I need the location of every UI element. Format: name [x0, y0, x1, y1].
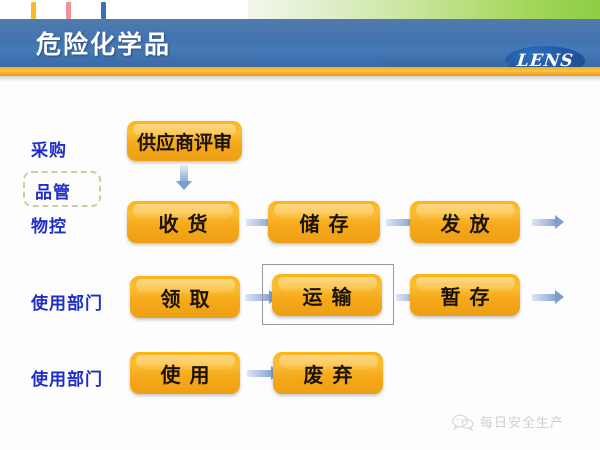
- slide: LENS 危险化学品 采购 品管 物控 使用部门 使用部门 供应商评审 收货 储…: [0, 0, 600, 450]
- node-collection[interactable]: 领取: [130, 276, 240, 318]
- node-issue[interactable]: 发放: [410, 201, 520, 243]
- node-supplier-review[interactable]: 供应商评审: [127, 121, 242, 161]
- node-temporary-storage[interactable]: 暂存: [410, 274, 520, 316]
- row-label-quality: 品管: [35, 178, 71, 203]
- row-label-user-dept-2: 使用部门: [31, 365, 103, 390]
- top-decor-strip: [0, 0, 600, 19]
- chat-bubble-icon: [452, 413, 474, 431]
- node-disposal[interactable]: 废弃: [273, 352, 383, 394]
- row-label-material-control: 物控: [31, 212, 67, 237]
- watermark-text: 每日安全生产: [480, 412, 564, 431]
- watermark: 每日安全生产: [452, 412, 564, 431]
- arrow-issue-out: [532, 215, 564, 229]
- node-receiving[interactable]: 收货: [127, 201, 239, 243]
- row-label-user-dept-1: 使用部门: [31, 289, 103, 314]
- flow-diagram: 采购 品管 物控 使用部门 使用部门 供应商评审 收货 储存 发放: [0, 82, 600, 450]
- tick-bar-pink: [66, 2, 71, 19]
- row-label-purchasing: 采购: [31, 136, 67, 161]
- tick-bar-yellow: [31, 2, 36, 19]
- orange-accent-band: [0, 67, 600, 76]
- green-gradient-band: [248, 0, 600, 19]
- tick-bar-blue: [101, 2, 106, 19]
- page-title: 危险化学品: [36, 25, 171, 61]
- node-storage[interactable]: 储存: [268, 201, 380, 243]
- node-transport[interactable]: 运输: [272, 274, 382, 316]
- arrow-down-supplier-to-receive: [176, 165, 192, 190]
- node-usage[interactable]: 使用: [130, 352, 240, 394]
- arrow-tempstore-out: [532, 290, 564, 304]
